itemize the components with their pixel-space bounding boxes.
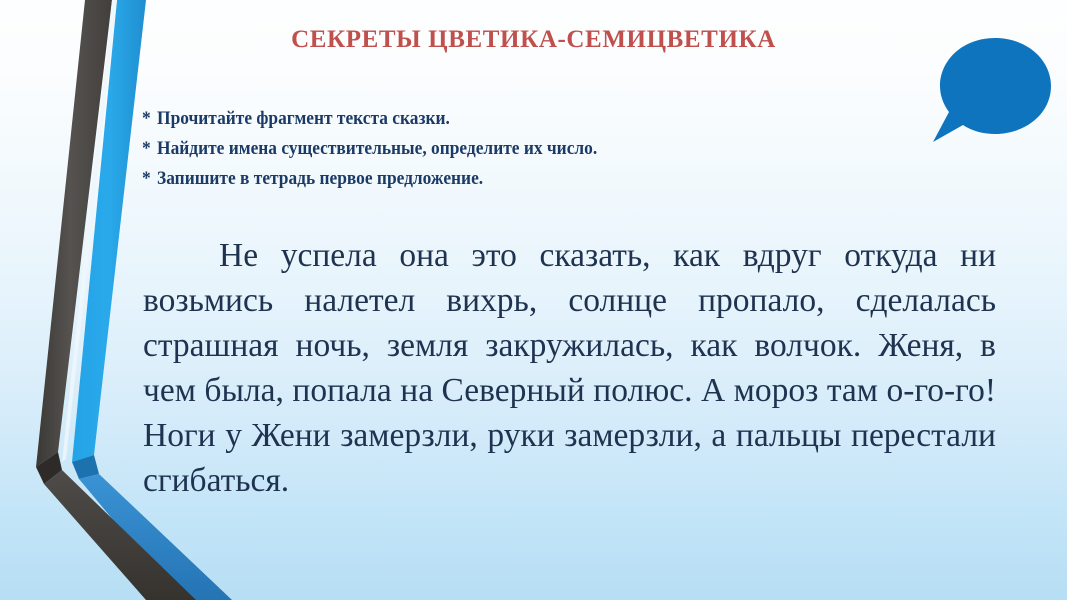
list-item: *Найдите имена существительные, определи… [142, 134, 932, 164]
bullet-mark-icon: * [142, 104, 157, 134]
slide-canvas: СЕКРЕТЫ ЦВЕТИКА-СЕМИЦВЕТИКА *Прочитайте … [0, 0, 1067, 600]
chevron-band-highlight [62, 0, 117, 462]
instruction-text: Запишите в тетрадь первое предложение. [157, 169, 483, 189]
chevron-gray-vertex-bevel [36, 452, 62, 484]
list-item: *Прочитайте фрагмент текста сказки. [142, 104, 932, 134]
chevron-blue-vertex-bevel [72, 455, 99, 479]
list-item: *Запишите в тетрадь первое предложение. [142, 164, 932, 194]
chevron-upper-blue-band [72, 0, 146, 462]
chevron-upper-gray-band [36, 0, 112, 467]
page-title: СЕКРЕТЫ ЦВЕТИКА-СЕМИЦВЕТИКА [0, 26, 1067, 54]
bullet-mark-icon: * [142, 134, 157, 164]
bullet-mark-icon: * [142, 164, 157, 194]
instruction-text: Прочитайте фрагмент текста сказки. [157, 109, 450, 129]
instruction-text: Найдите имена существительные, определит… [157, 139, 597, 159]
body-paragraph: Не успела она это сказать, как вдруг отк… [143, 233, 996, 503]
instruction-list: *Прочитайте фрагмент текста сказки. *Най… [142, 104, 982, 194]
